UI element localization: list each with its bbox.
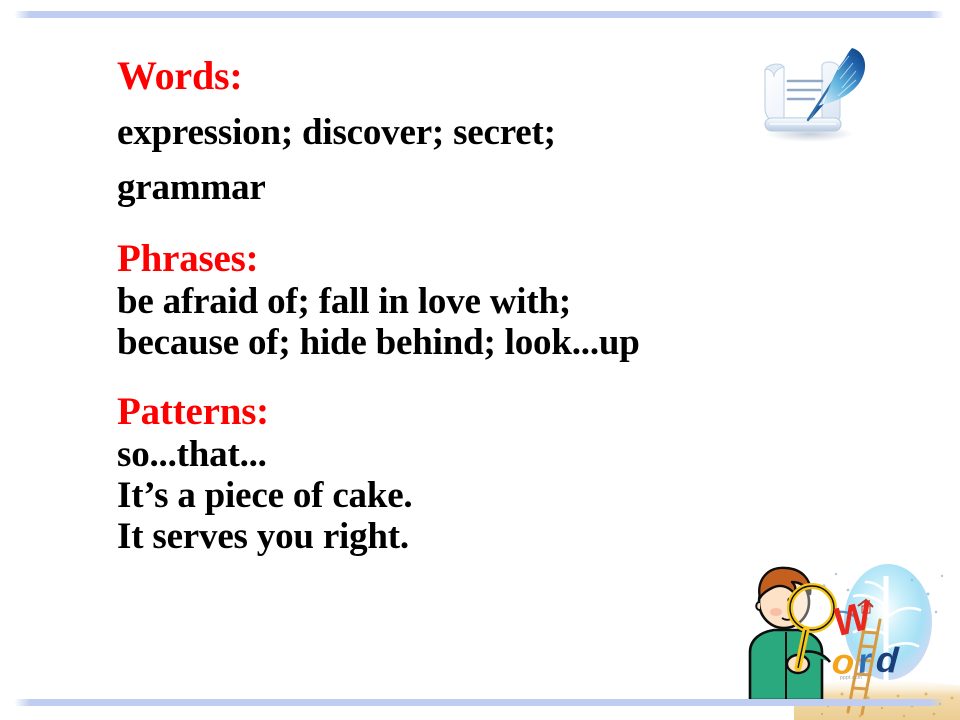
boy-cheek xyxy=(770,608,782,616)
section-phrases-heading: Phrases: xyxy=(117,237,857,281)
vocabulary-content: Words: expression; discover; secret; gra… xyxy=(117,54,857,558)
boy-with-magnifier-illustration: W o r d xyxy=(736,556,960,720)
section-phrases-line-2: because of; hide behind; look...up xyxy=(117,322,857,363)
top-divider-rule xyxy=(14,11,944,18)
section-patterns-heading: Patterns: xyxy=(117,390,857,434)
section-words: Words: expression; discover; secret; gra… xyxy=(117,54,857,215)
word-letter-d: d xyxy=(875,638,901,681)
section-patterns-line-2: It’s a piece of cake. xyxy=(117,475,857,516)
section-words-heading: Words: xyxy=(117,54,857,99)
slide-canvas: Words: expression; discover; secret; gra… xyxy=(0,0,960,720)
boy-figure xyxy=(750,568,834,700)
bottom-divider-rule xyxy=(14,699,944,706)
section-patterns: Patterns: so...that... It’s a piece of c… xyxy=(117,390,857,558)
section-phrases: Phrases: be afraid of; fall in love with… xyxy=(117,237,857,364)
section-patterns-line-3: It serves you right. xyxy=(117,516,857,557)
section-patterns-line-1: so...that... xyxy=(117,434,857,475)
watermark-label: pppt.com xyxy=(840,675,862,681)
section-words-line-1: expression; discover; secret; xyxy=(117,106,857,161)
parchment-ink-lines xyxy=(788,81,822,99)
section-phrases-line-1: be afraid of; fall in love with; xyxy=(117,281,857,322)
scroll-and-quill-icon xyxy=(748,34,876,154)
boy-ear xyxy=(756,602,760,610)
section-words-line-2: grammar xyxy=(117,161,857,216)
